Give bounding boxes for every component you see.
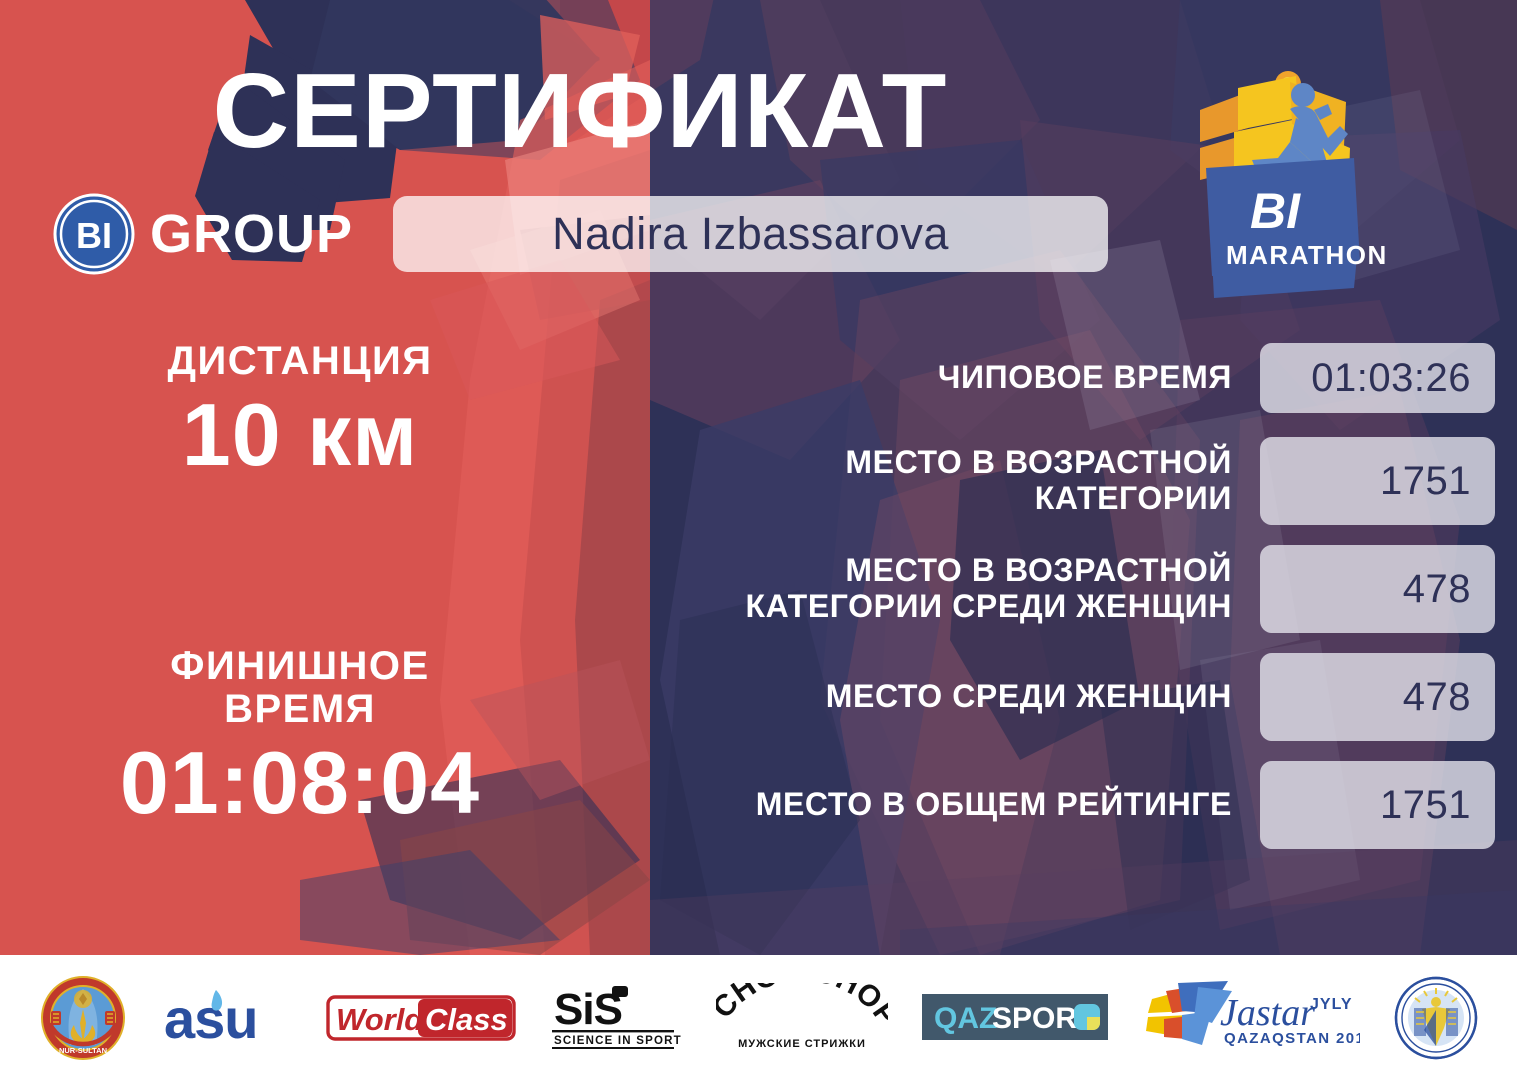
stat-age-category-women-place-label: МЕСТО В ВОЗРАСТНОЙ КАТЕГОРИИ СРЕДИ ЖЕНЩИ…: [640, 553, 1260, 625]
qazsport-logo-icon: QAZ SPORT: [922, 992, 1108, 1044]
world-class-logo-icon: World Class: [326, 989, 516, 1047]
stat-women-place-value: 478: [1260, 653, 1495, 741]
nur-sultan-emblem-text: NUR-SULTAN: [58, 1046, 106, 1055]
sponsor-chop-chop: CHOP-CHOP МУЖСКИЕ СТРИЖКИ: [716, 983, 888, 1053]
stat-overall-place-label: МЕСТО В ОБЩЕМ РЕЙТИНГЕ: [640, 787, 1260, 823]
page-title: СЕРТИФИКАТ: [0, 58, 1160, 164]
jastar-tagline: QAZAQSTAN 2019: [1224, 1030, 1360, 1047]
bi-marathon-logo: BI MARATHON: [1178, 62, 1408, 302]
bi-marathon-word: MARATHON: [1226, 240, 1388, 270]
sis-logo-icon: SiS SCIENCE IN SPORT: [550, 982, 682, 1054]
stat-age-category-women-place-value: 478: [1260, 545, 1495, 633]
stat-women-place-label: МЕСТО СРЕДИ ЖЕНЩИН: [640, 679, 1260, 715]
chop-chop-tagline: МУЖСКИЕ СТРИЖКИ: [738, 1038, 866, 1050]
stat-row-chip-time: ЧИПОВОЕ ВРЕМЯ 01:03:26: [640, 343, 1495, 413]
nur-sultan-emblem-icon: NUR-SULTAN: [40, 975, 126, 1061]
stat-distance: ДИСТАНЦИЯ 10 км: [0, 340, 600, 482]
sponsor-qazsport: QAZ SPORT: [922, 992, 1108, 1044]
stat-age-category-place-label: МЕСТО В ВОЗРАСТНОЙ КАТЕГОРИИ: [640, 445, 1260, 517]
sis-wordmark: SiS: [554, 985, 622, 1034]
stat-chip-time-label: ЧИПОВОЕ ВРЕМЯ: [640, 360, 1260, 396]
svg-text:BI: BI: [76, 215, 112, 256]
sponsor-world-class: World Class: [326, 989, 516, 1047]
sis-tagline: SCIENCE IN SPORT: [554, 1035, 682, 1047]
asu-wordmark: asu: [164, 987, 258, 1050]
stat-chip-time-value: 01:03:26: [1260, 343, 1495, 413]
bi-group-wordmark: GROUP: [150, 203, 353, 265]
certificate: СЕРТИФИКАТ BI GROUP Nadira Izbassarova: [0, 0, 1517, 1080]
stat-distance-label: ДИСТАНЦИЯ: [0, 340, 600, 383]
sponsor-sis: SiS SCIENCE IN SPORT: [550, 982, 682, 1054]
jastar-jyly-word: JYLY: [1310, 996, 1353, 1013]
stat-distance-value: 10 км: [0, 389, 600, 481]
right-stats-list: ЧИПОВОЕ ВРЕМЯ 01:03:26 МЕСТО В ВОЗРАСТНО…: [640, 343, 1495, 869]
chop-chop-wordmark: CHOP-CHOP: [716, 983, 888, 1032]
stat-row-women-place: МЕСТО СРЕДИ ЖЕНЩИН 478: [640, 653, 1495, 741]
participant-name: Nadira Izbassarova: [552, 208, 949, 260]
bi-group-logo: BI GROUP: [52, 192, 353, 276]
stat-age-category-place-value: 1751: [1260, 437, 1495, 525]
stat-overall-place-value: 1751: [1260, 761, 1495, 849]
stat-row-overall-place: МЕСТО В ОБЩЕМ РЕЙТИНГЕ 1751: [640, 761, 1495, 849]
sponsor-ministry: [1394, 976, 1478, 1060]
chop-chop-logo-icon: CHOP-CHOP МУЖСКИЕ СТРИЖКИ: [716, 983, 888, 1053]
asu-logo-icon: asu: [160, 982, 292, 1054]
sponsor-asu: asu: [160, 982, 292, 1054]
world-class-word-2: Class: [425, 1002, 508, 1037]
jastar-wordmark: Jastar: [1220, 992, 1315, 1034]
bi-marathon-mark: BI: [1250, 183, 1301, 239]
ministry-emblem-icon: [1394, 976, 1478, 1060]
bi-group-mark-icon: BI: [52, 192, 136, 276]
sponsor-bar: NUR-SULTAN asu World Class: [0, 955, 1517, 1080]
stat-finish-time-label-line1: ФИНИШНОЕ: [0, 645, 600, 688]
stat-row-age-category-women-place: МЕСТО В ВОЗРАСТНОЙ КАТЕГОРИИ СРЕДИ ЖЕНЩИ…: [640, 545, 1495, 633]
stat-finish-time-label-line2: ВРЕМЯ: [0, 688, 600, 731]
qazsport-word-1: QAZ: [934, 1002, 997, 1035]
stat-finish-time-value: 01:08:04: [0, 737, 600, 829]
participant-name-badge: Nadira Izbassarova: [393, 196, 1108, 272]
sponsor-jastar: Jastar JYLY QAZAQSTAN 2019: [1142, 979, 1360, 1057]
stat-finish-time: ФИНИШНОЕ ВРЕМЯ 01:08:04: [0, 645, 600, 830]
sponsor-nur-sultan: NUR-SULTAN: [40, 975, 126, 1061]
jastar-logo-icon: Jastar JYLY QAZAQSTAN 2019: [1142, 979, 1360, 1057]
stat-row-age-category-place: МЕСТО В ВОЗРАСТНОЙ КАТЕГОРИИ 1751: [640, 437, 1495, 525]
world-class-word-1: World: [336, 1002, 424, 1037]
